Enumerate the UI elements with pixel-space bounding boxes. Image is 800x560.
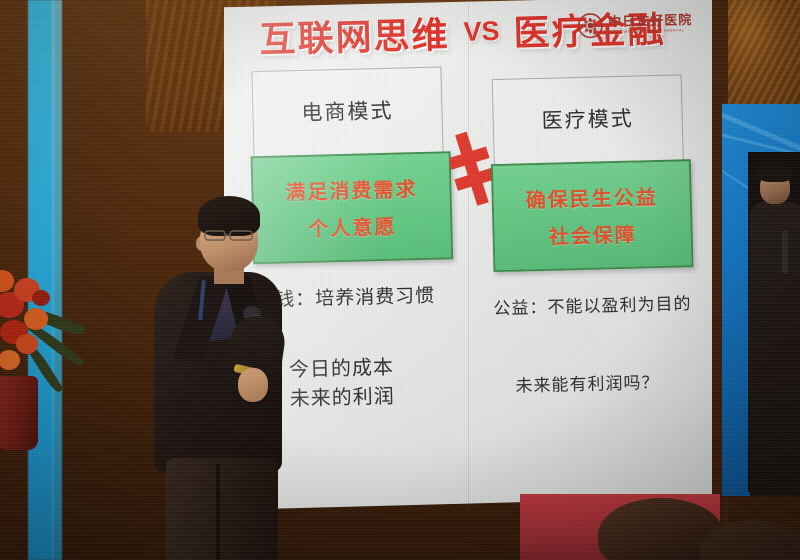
hospital-logo-text: 中日友好医院 CHINA-JAPAN FRIENDSHIP HOSPITAL bbox=[608, 13, 692, 35]
live-feed-speaker-body bbox=[750, 202, 800, 496]
projection-screen: 互联网思维 VS 医疗金融 bbox=[224, 0, 712, 510]
presentation-slide: 互联网思维 VS 医疗金融 bbox=[217, 0, 718, 510]
flower-vase bbox=[0, 376, 38, 450]
left-highlight-line-1: 满足消费需求 bbox=[285, 173, 418, 205]
flower-8 bbox=[32, 290, 50, 306]
left-conclusion-line-1: 今日的成本 bbox=[289, 354, 395, 386]
slide-title-left: 互联网思维 bbox=[259, 6, 450, 63]
hospital-name-en: CHINA-JAPAN FRIENDSHIP HOSPITAL bbox=[609, 29, 693, 35]
right-highlight-line-1: 确保民生公益 bbox=[525, 181, 658, 213]
hospital-name-cn: 中日友好医院 bbox=[608, 13, 692, 28]
flower-4 bbox=[24, 308, 48, 330]
left-panel-header: 电商模式 bbox=[252, 67, 442, 154]
flower-6 bbox=[16, 334, 38, 354]
speaker-trousers bbox=[166, 458, 278, 560]
right-panel-conclusion: 未来能有利润吗？ bbox=[515, 368, 660, 397]
flower-7 bbox=[0, 350, 20, 370]
live-feed-video bbox=[748, 152, 800, 492]
floral-arrangement bbox=[0, 268, 90, 438]
live-feed-display bbox=[722, 104, 800, 496]
right-panel-header: 医疗模式 bbox=[493, 75, 683, 162]
left-conclusion-line-2: 未来的利润 bbox=[289, 383, 395, 415]
left-panel-conclusion: 今日的成本 未来的利润 bbox=[289, 354, 395, 415]
hospital-emblem-icon bbox=[577, 12, 604, 39]
flower-5 bbox=[0, 270, 14, 292]
speaker-hand bbox=[238, 368, 268, 402]
hospital-logo: 中日友好医院 CHINA-JAPAN FRIENDSHIP HOSPITAL bbox=[577, 10, 693, 39]
speaker-trouser-seam bbox=[216, 464, 220, 560]
left-highlight-line-2: 个人意愿 bbox=[308, 211, 397, 242]
conference-stage-photo: 互联网思维 VS 医疗金融 bbox=[0, 0, 800, 560]
backdrop-panel-right-b bbox=[726, 0, 800, 112]
live-feed-speaker-hair bbox=[757, 162, 793, 182]
not-equal-symbol bbox=[449, 129, 495, 208]
right-panel-highlight-box: 确保民生公益 社会保障 bbox=[491, 159, 694, 272]
speaker-with-microphone bbox=[142, 196, 292, 560]
right-panel-note: 公益：不能以盈利为目的 bbox=[493, 289, 692, 319]
right-panel: 医疗模式 确保民生公益 社会保障 bbox=[492, 74, 687, 271]
live-feed-microphone bbox=[782, 230, 788, 274]
right-highlight-line-2: 社会保障 bbox=[548, 219, 637, 250]
not-equal-icon bbox=[449, 129, 495, 208]
eyeglasses-icon bbox=[204, 229, 256, 241]
slide-title-vs: VS bbox=[463, 15, 500, 47]
